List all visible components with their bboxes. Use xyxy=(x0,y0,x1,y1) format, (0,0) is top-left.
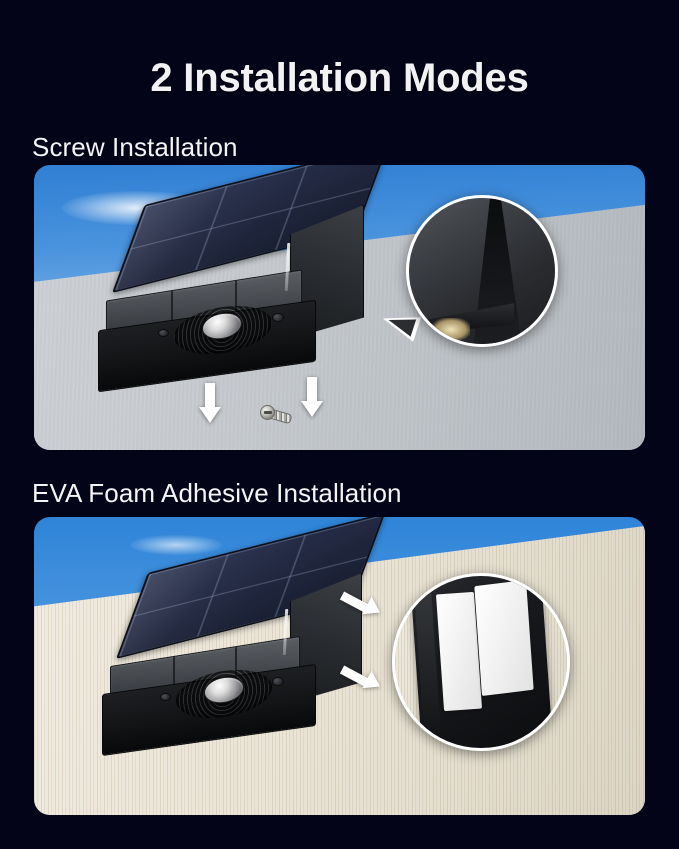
arrow-shaft xyxy=(307,377,317,403)
section-label-screw-installation: Screw Installation xyxy=(32,132,238,163)
eva-foam-pad xyxy=(436,592,482,711)
eva-foam-pad xyxy=(474,580,533,696)
callout-warm-glow xyxy=(432,318,470,341)
arrow-head xyxy=(199,407,221,423)
installation-modes-page: 2 Installation Modes Screw Installation xyxy=(0,0,679,849)
page-title: 2 Installation Modes xyxy=(0,56,679,101)
magnifier-callout-screw xyxy=(406,195,558,347)
housing-screw-dot xyxy=(272,313,284,322)
screw-slot xyxy=(264,411,272,414)
housing-screw-dot xyxy=(160,693,171,701)
housing-screw-dot xyxy=(158,329,169,337)
magnifier-callout-eva xyxy=(392,573,570,751)
arrow-shaft xyxy=(205,383,215,409)
housing-screw-dot xyxy=(272,677,284,686)
section-label-eva-foam-installation: EVA Foam Adhesive Installation xyxy=(32,478,402,509)
panel-eva-foam-installation xyxy=(34,517,645,815)
panel-screw-installation xyxy=(34,165,645,450)
arrow-head xyxy=(301,401,323,417)
